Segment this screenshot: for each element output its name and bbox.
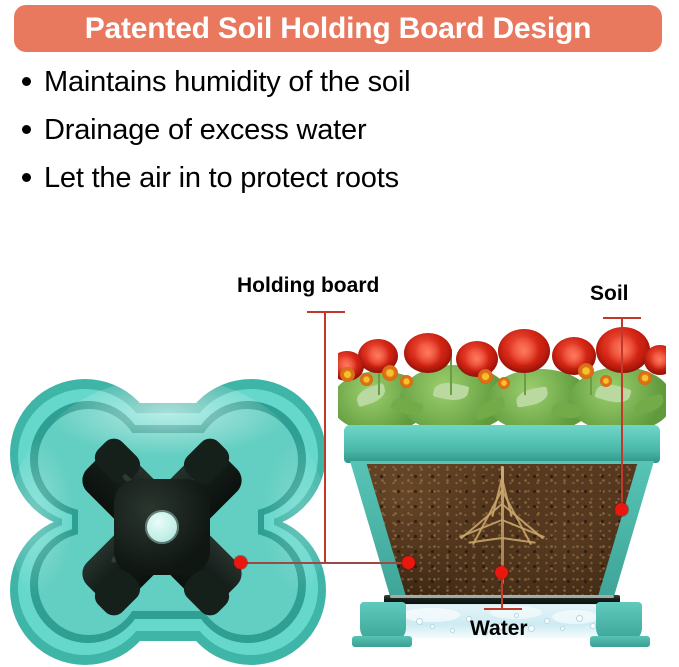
leader-cap [603, 317, 641, 319]
accent-flower [638, 371, 652, 385]
accent-flower [400, 375, 413, 388]
accent-flower [360, 373, 373, 386]
callout-label-soil: Soil [590, 283, 629, 304]
bullet-marker-icon [22, 77, 31, 86]
flower-bloom [498, 329, 550, 373]
pot-foot [352, 636, 412, 647]
accent-flower [340, 367, 355, 382]
accent-flower [478, 369, 493, 384]
feature-text: Maintains humidity of the soil [44, 68, 410, 97]
callout-label-holding-board: Holding board [237, 275, 379, 296]
accent-flower [382, 365, 398, 381]
page-title: Patented Soil Holding Board Design [85, 14, 592, 44]
drainage-hole [145, 510, 179, 544]
header-banner: Patented Soil Holding Board Design [14, 5, 662, 52]
bullet-marker-icon [22, 173, 31, 182]
product-illustration: Holding board Soil Water [0, 255, 679, 646]
list-item: Let the air in to protect roots [22, 164, 582, 212]
bullet-marker-icon [22, 125, 31, 134]
feature-list: Maintains humidity of the soil Drainage … [22, 68, 582, 212]
flower-bloom [596, 327, 650, 373]
holding-board-component [64, 429, 260, 625]
holding-board-sheen [390, 595, 614, 598]
callout-label-water: Water [470, 618, 528, 639]
accent-flower [600, 375, 612, 387]
accent-flower [498, 377, 510, 389]
clover-planter-top-view [8, 377, 328, 667]
list-item: Drainage of excess water [22, 116, 582, 164]
flower-arrangement [338, 325, 666, 429]
feature-text: Drainage of excess water [44, 116, 366, 145]
flower-bloom [404, 333, 452, 373]
planter-cross-section [338, 325, 666, 615]
list-item: Maintains humidity of the soil [22, 68, 582, 116]
leader-cap [307, 311, 345, 313]
feature-text: Let the air in to protect roots [44, 164, 399, 193]
pot-foot [590, 636, 650, 647]
accent-flower [578, 363, 594, 379]
